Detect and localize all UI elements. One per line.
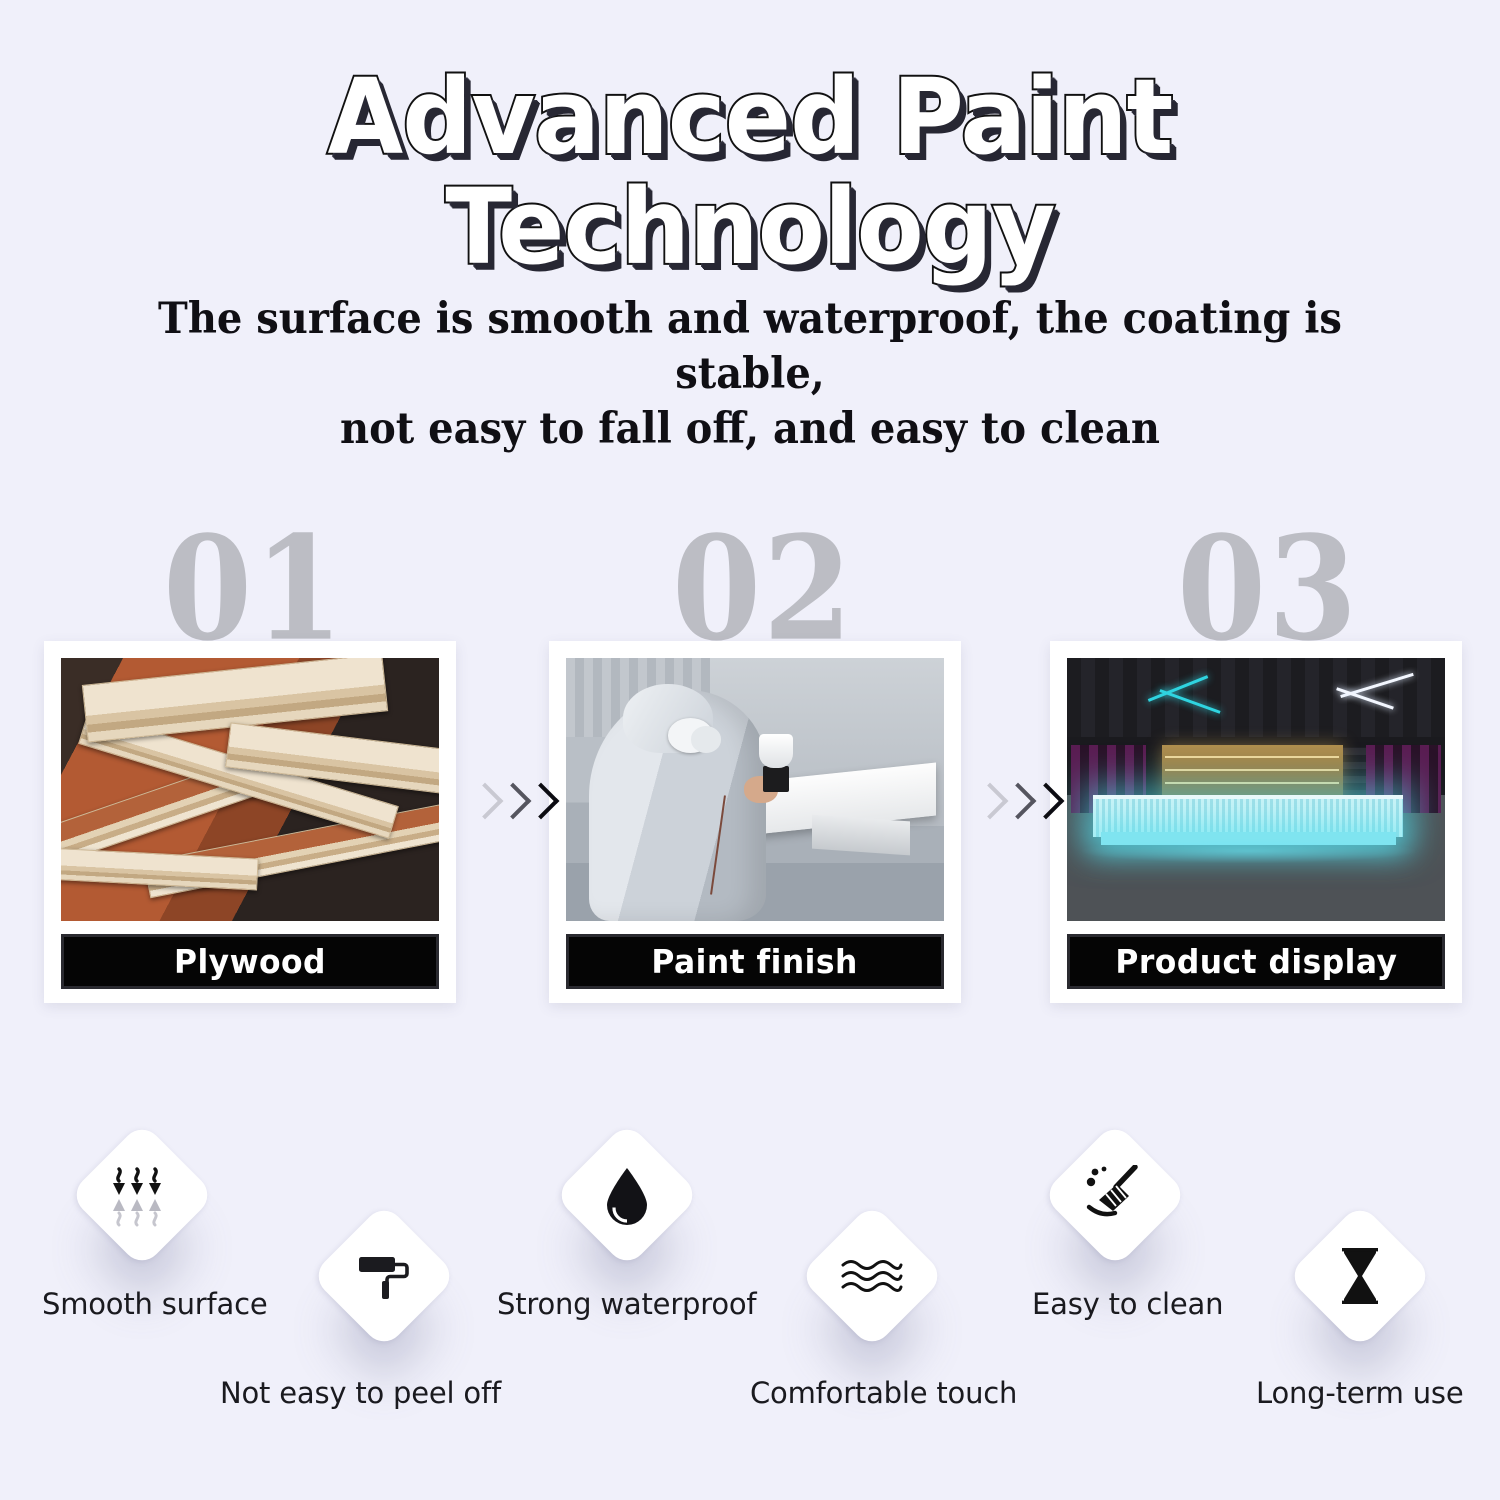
- retail-showroom-counter-photo: [1067, 658, 1445, 921]
- down-arrows-smooth-glyph: [107, 1163, 177, 1227]
- step-card-paint-finish[interactable]: Paint finish: [549, 641, 961, 1003]
- broom-icon: [1041, 1121, 1188, 1268]
- feature-label-comfortable-touch: Comfortable touch: [750, 1376, 1017, 1410]
- hourglass-glyph: [1337, 1247, 1383, 1305]
- chevron-right-icon-3: [526, 784, 548, 824]
- feature-label-easy-to-clean: Easy to clean: [1032, 1287, 1223, 1321]
- plywood-stack-photo: [61, 658, 439, 921]
- triple-chevron-right-icon-2: [975, 784, 1053, 824]
- step-number-03: 03: [1177, 518, 1359, 661]
- subtitle-line-1: The surface is smooth and waterproof, th…: [158, 294, 1342, 399]
- feature-label-smooth-surface: Smooth surface: [42, 1287, 268, 1321]
- feature-label-long-term-use: Long-term use: [1256, 1376, 1463, 1410]
- chevron-right-icon-6: [1031, 784, 1053, 824]
- subtitle-line-2: not easy to fall off, and easy to clean: [136, 402, 1364, 457]
- infographic-page: Advanced Paint Technology The surface is…: [0, 0, 1500, 1500]
- feature-easy-to-clean[interactable]: Easy to clean: [1063, 1143, 1167, 1247]
- down-arrows-smooth-icon: [68, 1121, 215, 1268]
- feature-strong-waterproof[interactable]: Strong waterproof: [575, 1143, 679, 1247]
- page-subtitle: The surface is smooth and waterproof, th…: [136, 292, 1364, 457]
- step-label-product-display: Product display: [1115, 942, 1397, 981]
- feature-label-not-easy-to-peel-off: Not easy to peel off: [220, 1376, 501, 1410]
- paint-roller-icon: [310, 1202, 457, 1349]
- feature-not-easy-to-peel-off[interactable]: Not easy to peel off: [332, 1224, 436, 1328]
- step-number-01: 01: [163, 518, 345, 661]
- feature-smooth-surface[interactable]: Smooth surface: [90, 1143, 194, 1247]
- step-label-bar-paint-finish: Paint finish: [566, 934, 944, 989]
- page-title: Advanced Paint Technology: [45, 62, 1455, 282]
- chevron-right-icon-2: [498, 784, 520, 824]
- step-label-paint-finish: Paint finish: [652, 942, 858, 981]
- broom-glyph: [1083, 1165, 1147, 1225]
- feature-comfortable-touch[interactable]: Comfortable touch: [820, 1224, 924, 1328]
- feature-long-term-use[interactable]: Long-term use: [1308, 1224, 1412, 1328]
- hourglass-icon: [1286, 1202, 1433, 1349]
- step-label-plywood: Plywood: [174, 942, 326, 981]
- water-drop-glyph: [601, 1164, 653, 1226]
- chevron-right-icon-4: [975, 784, 997, 824]
- step-label-bar-product-display: Product display: [1067, 934, 1445, 989]
- step-label-bar-plywood: Plywood: [61, 934, 439, 989]
- chevron-right-icon-5: [1003, 784, 1025, 824]
- spray-painting-worker-photo: [566, 658, 944, 921]
- triple-chevron-right-icon: [470, 784, 548, 824]
- water-drop-icon: [553, 1121, 700, 1268]
- step-number-02: 02: [672, 518, 854, 661]
- step-card-product-display[interactable]: Product display: [1050, 641, 1462, 1003]
- wavy-lines-glyph: [839, 1256, 905, 1296]
- feature-label-strong-waterproof: Strong waterproof: [497, 1287, 756, 1321]
- paint-roller-glyph: [353, 1245, 415, 1307]
- chevron-right-icon-1: [470, 784, 492, 824]
- wavy-lines-icon: [798, 1202, 945, 1349]
- title-block: Advanced Paint Technology: [0, 62, 1500, 282]
- step-card-plywood[interactable]: Plywood: [44, 641, 456, 1003]
